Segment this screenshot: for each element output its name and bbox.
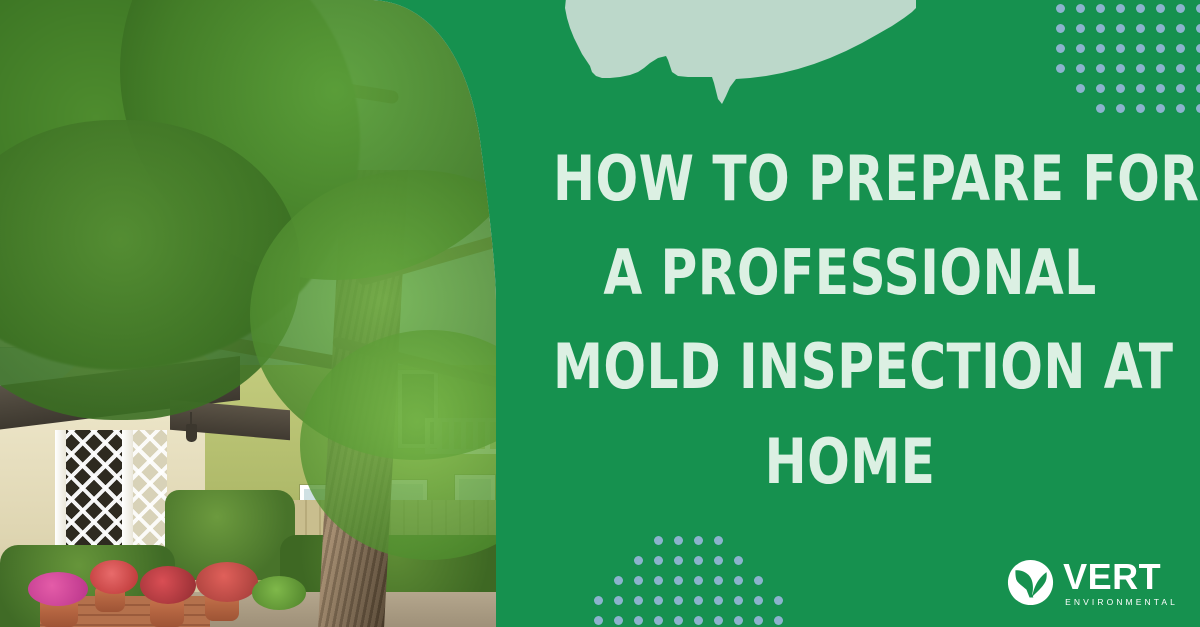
pattern-dot <box>1156 44 1165 53</box>
pattern-dot <box>1196 44 1200 53</box>
page-title: HOW TO PREPARE FOR A PROFESSIONAL MOLD I… <box>553 132 1147 509</box>
pattern-dot <box>754 576 763 585</box>
pattern-dot <box>1096 24 1105 33</box>
pattern-dot <box>1116 4 1125 13</box>
pattern-dot <box>654 576 663 585</box>
pattern-dot <box>1136 84 1145 93</box>
pattern-dot <box>714 576 723 585</box>
pattern-dot <box>654 536 663 545</box>
pattern-dot <box>694 596 703 605</box>
pattern-dot <box>674 576 683 585</box>
pattern-dot <box>1176 104 1185 113</box>
pattern-dot <box>674 596 683 605</box>
pattern-dot <box>774 616 783 625</box>
pattern-dot <box>714 556 723 565</box>
pattern-dot <box>1176 64 1185 73</box>
pattern-dot <box>1096 44 1105 53</box>
pattern-dot <box>714 616 723 625</box>
pattern-dot <box>1116 24 1125 33</box>
blog-banner: HOW TO PREPARE FOR A PROFESSIONAL MOLD I… <box>0 0 1200 627</box>
pattern-dot <box>1076 24 1085 33</box>
pattern-dot <box>1156 24 1165 33</box>
logo-wordmark: VERT <box>1063 559 1178 595</box>
pattern-dot <box>734 596 743 605</box>
pattern-dot <box>1176 44 1185 53</box>
pattern-dot <box>1056 64 1065 73</box>
title-line-1: HOW TO PREPARE FOR <box>553 132 1147 226</box>
pattern-dot <box>1136 4 1145 13</box>
pattern-dot <box>1056 24 1065 33</box>
pattern-dot <box>1096 84 1105 93</box>
pattern-dot <box>614 616 623 625</box>
pattern-dot <box>1096 104 1105 113</box>
paint-stroke-shape <box>560 0 916 106</box>
photo-artwork <box>0 0 500 627</box>
pattern-dot <box>1136 64 1145 73</box>
pattern-dot <box>1196 84 1200 93</box>
pattern-dot <box>1136 24 1145 33</box>
pattern-dot <box>654 556 663 565</box>
vert-environmental-logo[interactable]: VERT ENVIRONMENTAL <box>1007 559 1178 608</box>
pattern-dot <box>634 616 643 625</box>
pattern-dot <box>1196 4 1200 13</box>
pattern-dot <box>1116 44 1125 53</box>
dot-grid-top-right <box>1056 4 1200 124</box>
pattern-dot <box>674 536 683 545</box>
pattern-dot <box>694 576 703 585</box>
pattern-dot <box>1096 64 1105 73</box>
pattern-dot <box>734 576 743 585</box>
title-line-3: MOLD INSPECTION AT <box>553 320 1147 414</box>
pattern-dot <box>634 596 643 605</box>
pattern-dot <box>1196 104 1200 113</box>
pattern-dot <box>1136 104 1145 113</box>
pattern-dot <box>1196 24 1200 33</box>
pattern-dot <box>674 556 683 565</box>
dot-grid-bottom-center <box>594 536 794 627</box>
pattern-dot <box>734 616 743 625</box>
pattern-dot <box>734 556 743 565</box>
title-line-2: A PROFESSIONAL <box>553 226 1147 320</box>
pattern-dot <box>1116 84 1125 93</box>
pattern-dot <box>594 616 603 625</box>
pattern-dot <box>774 596 783 605</box>
pattern-dot <box>1176 4 1185 13</box>
pattern-dot <box>1076 4 1085 13</box>
pattern-dot <box>1076 64 1085 73</box>
logo-text-block: VERT ENVIRONMENTAL <box>1063 559 1178 608</box>
pattern-dot <box>614 596 623 605</box>
pattern-dot <box>634 556 643 565</box>
pattern-dot <box>1056 4 1065 13</box>
pattern-dot <box>694 556 703 565</box>
pattern-dot <box>1076 84 1085 93</box>
pattern-dot <box>1176 24 1185 33</box>
pattern-dot <box>1156 64 1165 73</box>
pattern-dot <box>1136 44 1145 53</box>
hero-photo <box>0 0 500 627</box>
pattern-dot <box>1156 84 1165 93</box>
pattern-dot <box>634 576 643 585</box>
logo-subtitle: ENVIRONMENTAL <box>1065 598 1178 607</box>
pattern-dot <box>754 616 763 625</box>
pattern-dot <box>714 536 723 545</box>
pattern-dot <box>1116 64 1125 73</box>
pattern-dot <box>614 576 623 585</box>
pattern-dot <box>654 616 663 625</box>
vert-leaf-circle-icon <box>1007 559 1054 606</box>
pattern-dot <box>1096 4 1105 13</box>
pattern-dot <box>1116 104 1125 113</box>
pattern-dot <box>594 596 603 605</box>
pattern-dot <box>1056 44 1065 53</box>
pattern-dot <box>1176 84 1185 93</box>
title-line-4: HOME <box>553 415 1147 509</box>
pattern-dot <box>714 596 723 605</box>
pattern-dot <box>694 616 703 625</box>
pattern-dot <box>694 536 703 545</box>
pattern-dot <box>654 596 663 605</box>
pattern-dot <box>1156 104 1165 113</box>
pattern-dot <box>1156 4 1165 13</box>
pattern-dot <box>1196 64 1200 73</box>
pattern-dot <box>754 596 763 605</box>
pattern-dot <box>1076 44 1085 53</box>
pattern-dot <box>674 616 683 625</box>
